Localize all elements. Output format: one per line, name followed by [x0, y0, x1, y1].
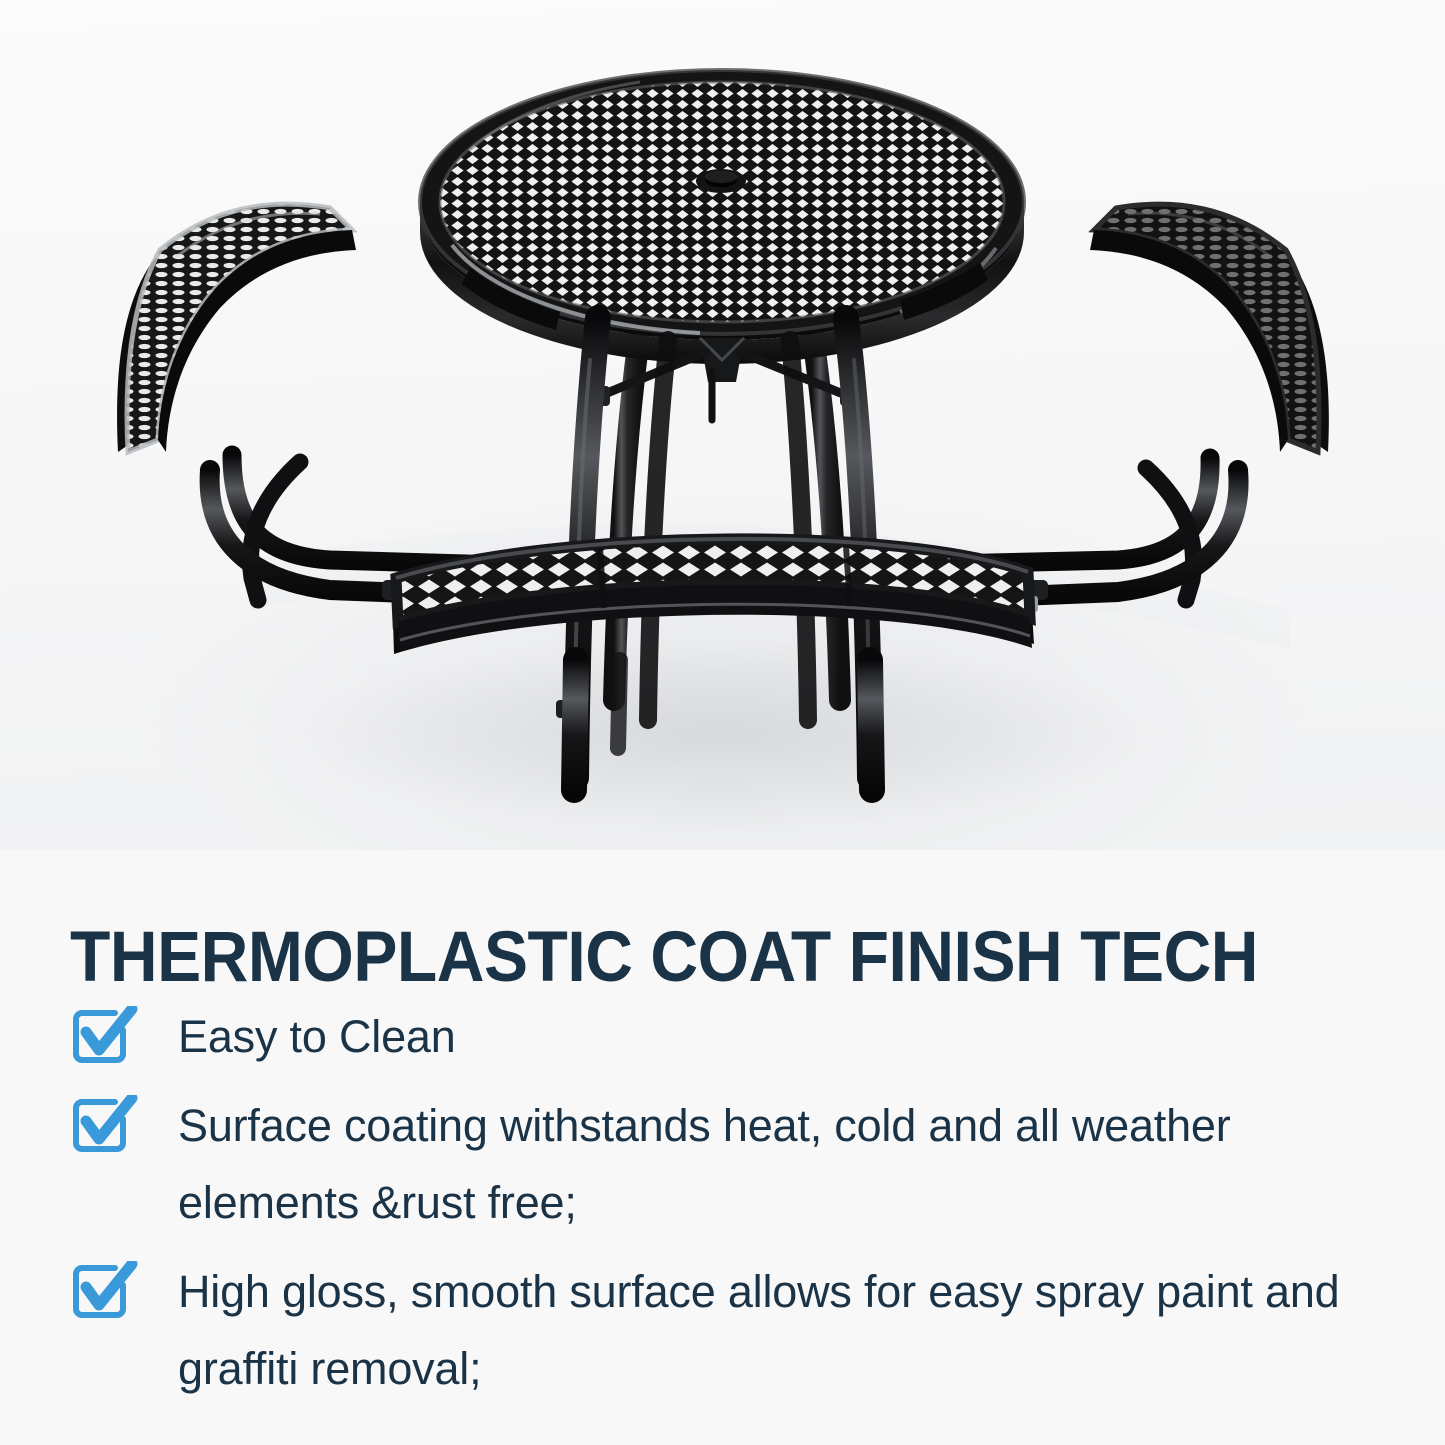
right-bench-seat	[1090, 204, 1329, 452]
product-feature-page: THERMOPLASTIC COAT FINISH TECH Easy to C…	[0, 0, 1445, 1445]
table-top	[420, 70, 1024, 364]
list-item: High gloss, smooth surface allows for ea…	[70, 1253, 1400, 1407]
front-bench-seat	[392, 539, 1034, 654]
list-item-label: High gloss, smooth surface allows for ea…	[178, 1253, 1400, 1407]
floor-shadow	[290, 640, 1150, 830]
list-item: Surface coating withstands heat, cold an…	[70, 1087, 1400, 1241]
list-item-label: Surface coating withstands heat, cold an…	[178, 1087, 1400, 1241]
picnic-table-illustration	[0, 0, 1445, 850]
left-bench-seat	[117, 204, 356, 452]
table-top-mesh	[440, 82, 1004, 322]
feature-list: Easy to Clean Surface coating withstands…	[70, 998, 1400, 1419]
checkbox-checked-icon	[70, 1261, 138, 1323]
checkbox-checked-icon	[70, 1095, 138, 1157]
list-item-label: Easy to Clean	[178, 998, 1400, 1075]
product-image-area	[0, 0, 1445, 850]
umbrella-hole	[696, 169, 746, 193]
page-title: THERMOPLASTIC COAT FINISH TECH	[70, 920, 1298, 996]
checkbox-checked-icon	[70, 1006, 138, 1068]
list-item: Easy to Clean	[70, 998, 1400, 1075]
